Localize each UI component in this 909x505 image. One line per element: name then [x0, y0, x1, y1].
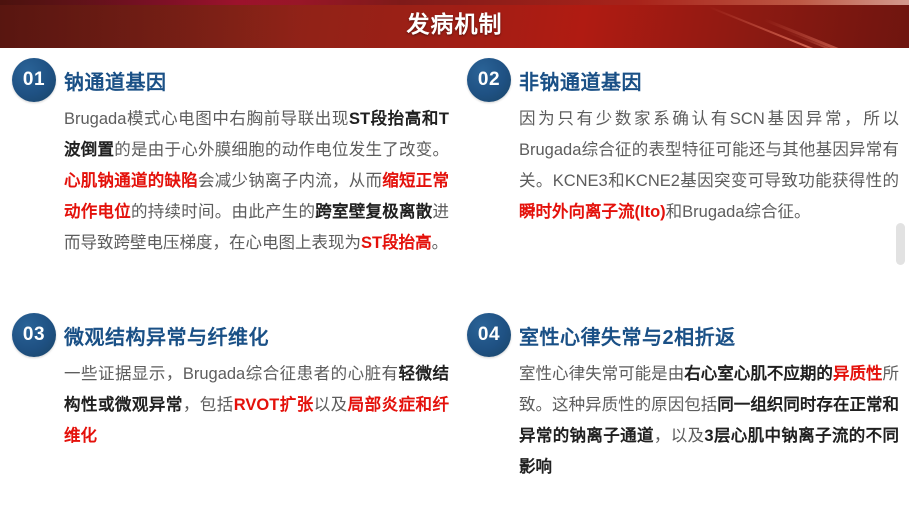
section-03-body: 一些证据显示，Brugada综合征患者的心脏有轻微结构性或微观异常，包括RVOT…	[12, 359, 449, 452]
slide-title: 发病机制	[0, 0, 909, 48]
vertical-scrollbar-thumb[interactable]	[896, 223, 905, 265]
section-01-body: Brugada模式心电图中右胸前导联出现ST段抬高和T波倒置的是由于心外膜细胞的…	[12, 104, 449, 259]
section-number-badge: 04	[467, 313, 511, 357]
section-01-header: 01 钠通道基因	[12, 58, 449, 102]
section-03-header: 03 微观结构异常与纤维化	[12, 313, 449, 357]
section-number-badge: 03	[12, 313, 56, 357]
section-number-badge: 01	[12, 58, 56, 102]
section-01-title: 钠通道基因	[64, 66, 167, 95]
section-02-header: 02 非钠通道基因	[467, 58, 899, 102]
section-04-header: 04 室性心律失常与2相折返	[467, 313, 899, 357]
section-01: 01 钠通道基因 Brugada模式心电图中右胸前导联出现ST段抬高和T波倒置的…	[4, 58, 459, 313]
section-04: 04 室性心律失常与2相折返 室性心律失常可能是由右心室心肌不应期的异质性所致。…	[459, 313, 909, 483]
section-04-body: 室性心律失常可能是由右心室心肌不应期的异质性所致。这种异质性的原因包括同一组织同…	[467, 359, 899, 483]
slide-header-banner: 发病机制	[0, 0, 909, 48]
section-04-title: 室性心律失常与2相折返	[519, 321, 736, 350]
section-03: 03 微观结构异常与纤维化 一些证据显示，Brugada综合征患者的心脏有轻微结…	[4, 313, 459, 483]
section-02: 02 非钠通道基因 因为只有少数家系确认有SCN基因异常，所以Brugada综合…	[459, 58, 909, 313]
section-02-title: 非钠通道基因	[519, 66, 642, 95]
section-03-title: 微观结构异常与纤维化	[64, 321, 269, 350]
slide-content: 01 钠通道基因 Brugada模式心电图中右胸前导联出现ST段抬高和T波倒置的…	[0, 48, 909, 505]
sections-grid: 01 钠通道基因 Brugada模式心电图中右胸前导联出现ST段抬高和T波倒置的…	[4, 58, 905, 483]
section-02-body: 因为只有少数家系确认有SCN基因异常，所以Brugada综合征的表型特征可能还与…	[467, 104, 899, 228]
section-number-badge: 02	[467, 58, 511, 102]
